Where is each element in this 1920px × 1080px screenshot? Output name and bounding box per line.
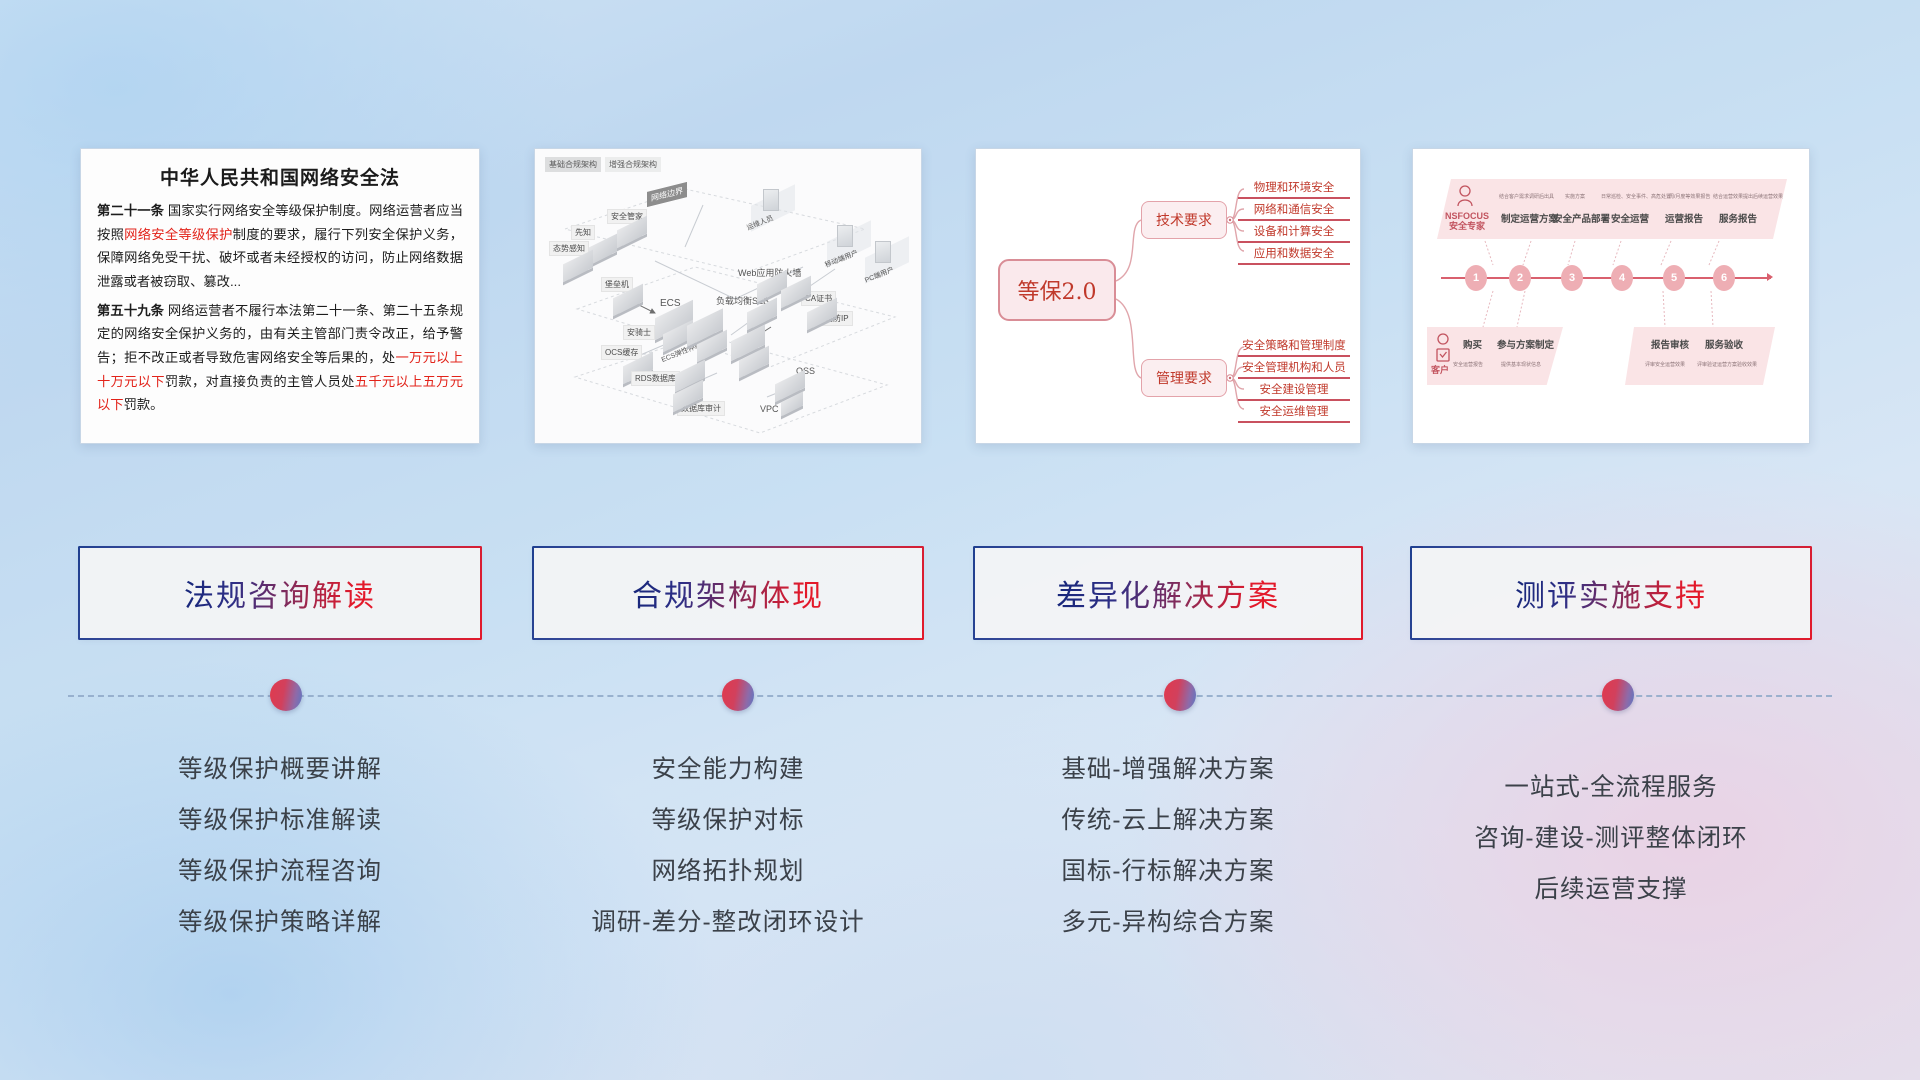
service-flow-top-small-1: 实施方案 <box>1565 193 1585 200</box>
list-item: 等级保护策略详解 <box>80 897 480 948</box>
title-box-label-1: 法规咨询解读 <box>184 571 376 615</box>
mindmap-leaf-mgmt-3: 安全运维管理 <box>1238 403 1350 423</box>
mindmap-leaf-mgmt-2: 安全建设管理 <box>1238 381 1350 401</box>
service-flow-expert-label: NSFOCUS安全专家 <box>1445 211 1489 232</box>
architecture-server-icon <box>875 241 891 263</box>
law-card-title: 中华人民共和国网络安全法 <box>97 163 463 190</box>
architecture-node-xianzhi: 先知 <box>571 225 595 240</box>
service-flow-top-big-3: 运营报告 <box>1665 211 1703 225</box>
title-box-assessment-support[interactable]: 测评实施支持 <box>1412 548 1810 638</box>
mindmap-leaf-tech-3: 应用和数据安全 <box>1238 245 1350 265</box>
architecture-card: 基础合规架构 增强合规架构 <box>534 148 922 444</box>
mindmap-root-node: 等保2.0 <box>998 259 1116 321</box>
law-card-body: 中华人民共和国网络安全法 第二十一条 国家实行网络安全等级保护制度。网络运营者应… <box>81 149 479 427</box>
list-item: 咨询-建设-测评整体闭环 <box>1412 813 1810 864</box>
detail-list-1: 等级保护概要讲解 等级保护标准解读 等级保护流程咨询 等级保护策略详解 <box>80 744 480 948</box>
detail-list-3: 基础-增强解决方案 传统-云上解决方案 国标-行标解决方案 多元-异构综合方案 <box>975 744 1361 948</box>
list-item: 后续运营支撑 <box>1412 864 1810 915</box>
title-box-differentiated-solution[interactable]: 差异化解决方案 <box>975 548 1361 638</box>
timeline-dot-1[interactable] <box>270 679 302 711</box>
list-item: 等级保护流程咨询 <box>80 846 480 897</box>
list-item: 等级保护概要讲解 <box>80 744 480 795</box>
mindmap-diagram: 等保2.0 技术要求 物理和环境安全 网络和通信安全 设备和计算安全 应用和数据… <box>976 149 1360 443</box>
service-flow-bottom-big-2: 报告审核 <box>1651 337 1689 351</box>
service-flow-top-small-0: 结合客户需求调研后出具 <box>1499 193 1554 200</box>
mindmap-branch-management: 管理要求 <box>1141 359 1227 397</box>
service-flow-bottom-small-0: 安全运营报告 <box>1453 361 1483 368</box>
timeline-dashed-line <box>68 695 1832 697</box>
architecture-node-vpc: VPC <box>757 403 782 415</box>
title-box-compliance-architecture[interactable]: 合规架构体现 <box>534 548 922 638</box>
list-item: 国标-行标解决方案 <box>975 846 1361 897</box>
mindmap-leaf-tech-2: 设备和计算安全 <box>1238 223 1350 243</box>
architecture-diagram: 基础合规架构 增强合规架构 <box>535 149 921 443</box>
detail-list-4: 一站式-全流程服务 咨询-建设-测评整体闭环 后续运营支撑 <box>1412 762 1810 915</box>
service-flow-top-small-2: 日常巡检、安全事件、高危处置 <box>1601 193 1671 200</box>
list-item: 一站式-全流程服务 <box>1412 762 1810 813</box>
title-box-label-3: 差异化解决方案 <box>1056 571 1280 615</box>
service-flow-card: NSFOCUS安全专家 客户 结合客户需求调研后出具 制定运营方案 实施方案 安… <box>1412 148 1810 444</box>
law-run-2-4: 罚款。 <box>124 397 164 412</box>
service-flow-bottom-big-1: 参与方案制定 <box>1497 337 1554 351</box>
list-item: 安全能力构建 <box>534 744 922 795</box>
architecture-node-anqishi: 安骑士 <box>623 325 655 340</box>
list-item: 等级保护标准解读 <box>80 795 480 846</box>
list-item: 传统-云上解决方案 <box>975 795 1361 846</box>
title-box-label-2: 合规架构体现 <box>632 571 824 615</box>
service-flow-diagram: NSFOCUS安全专家 客户 结合客户需求调研后出具 制定运营方案 实施方案 安… <box>1413 149 1809 443</box>
service-flow-axis-arrow <box>1767 273 1773 281</box>
service-flow-top-big-4: 服务报告 <box>1719 211 1757 225</box>
architecture-node-rds-database: RDS数据库 <box>631 371 680 386</box>
service-flow-step-3: 3 <box>1561 265 1583 291</box>
service-flow-bottom-big-3: 服务验收 <box>1705 337 1743 351</box>
timeline-dot-4[interactable] <box>1602 679 1634 711</box>
service-flow-customer-label: 客户 <box>1431 365 1449 375</box>
service-flow-top-big-1: 安全产品部署 <box>1553 211 1610 225</box>
list-item: 多元-异构综合方案 <box>975 897 1361 948</box>
service-flow-bottom-small-3: 评审验证运营方案验收效果 <box>1697 361 1757 368</box>
law-card: 中华人民共和国网络安全法 第二十一条 国家实行网络安全等级保护制度。网络运营者应… <box>80 148 480 444</box>
law-article-label-2: 第五十九条 <box>97 303 164 318</box>
law-paragraph-1: 第二十一条 国家实行网络安全等级保护制度。网络运营者应当按照网络安全等级保护制度… <box>97 199 463 294</box>
mindmap-leaf-mgmt-0: 安全策略和管理制度 <box>1238 337 1350 357</box>
service-flow-step-1: 1 <box>1465 265 1487 291</box>
title-boxes-row: 法规咨询解读 合规架构体现 差异化解决方案 测评实施支持 <box>0 548 1920 644</box>
detail-list-2: 安全能力构建 等级保护对标 网络拓扑规划 调研-差分-整改闭环设计 <box>534 744 922 948</box>
list-item: 网络拓扑规划 <box>534 846 922 897</box>
law-paragraph-2: 第五十九条 网络运营者不履行本法第二十一条、第二十五条规定的网络安全保护义务的，… <box>97 299 463 417</box>
title-box-label-4: 测评实施支持 <box>1515 571 1707 615</box>
service-flow-step-2: 2 <box>1509 265 1531 291</box>
mindmap-leaf-tech-0: 物理和环境安全 <box>1238 179 1350 199</box>
service-flow-top-small-3: 周/月度等效果报告 <box>1669 193 1710 200</box>
timeline-dot-3[interactable] <box>1164 679 1196 711</box>
service-flow-top-big-0: 制定运营方案 <box>1501 211 1558 225</box>
service-flow-step-5: 5 <box>1663 265 1685 291</box>
service-flow-bottom-small-1: 提供基本现状信息 <box>1501 361 1541 368</box>
architecture-server-icon <box>763 189 779 211</box>
law-article-label-1: 第二十一条 <box>97 203 164 218</box>
list-item: 等级保护对标 <box>534 795 922 846</box>
reference-cards-row: 中华人民共和国网络安全法 第二十一条 国家实行网络安全等级保护制度。网络运营者应… <box>0 148 1920 444</box>
law-run-1-1: 网络安全等级保护 <box>124 227 233 242</box>
service-flow-bottom-small-2: 评审安全运营效果 <box>1645 361 1685 368</box>
architecture-server-icon <box>837 225 853 247</box>
mindmap-card: 等保2.0 技术要求 物理和环境安全 网络和通信安全 设备和计算安全 应用和数据… <box>975 148 1361 444</box>
law-run-2-2: 罚款，对直接负责的主管人员处 <box>165 374 355 389</box>
service-flow-top-big-2: 安全运营 <box>1611 211 1649 225</box>
list-item: 基础-增强解决方案 <box>975 744 1361 795</box>
timeline-dot-2[interactable] <box>722 679 754 711</box>
title-box-regulation-consulting[interactable]: 法规咨询解读 <box>80 548 480 638</box>
service-flow-step-6: 6 <box>1713 265 1735 291</box>
service-flow-top-small-4: 结合运营效果提出后续运营效果 <box>1713 193 1783 200</box>
list-item: 调研-差分-整改闭环设计 <box>534 897 922 948</box>
service-flow-bottom-big-0: 购买 <box>1463 337 1482 351</box>
architecture-node-ocs-cache: OCS缓存 <box>601 345 642 360</box>
mindmap-leaf-mgmt-1: 安全管理机构和人员 <box>1238 359 1350 379</box>
timeline <box>68 694 1832 698</box>
mindmap-branch-technical: 技术要求 <box>1141 201 1227 239</box>
mindmap-leaf-tech-1: 网络和通信安全 <box>1238 201 1350 221</box>
service-flow-step-4: 4 <box>1611 265 1633 291</box>
